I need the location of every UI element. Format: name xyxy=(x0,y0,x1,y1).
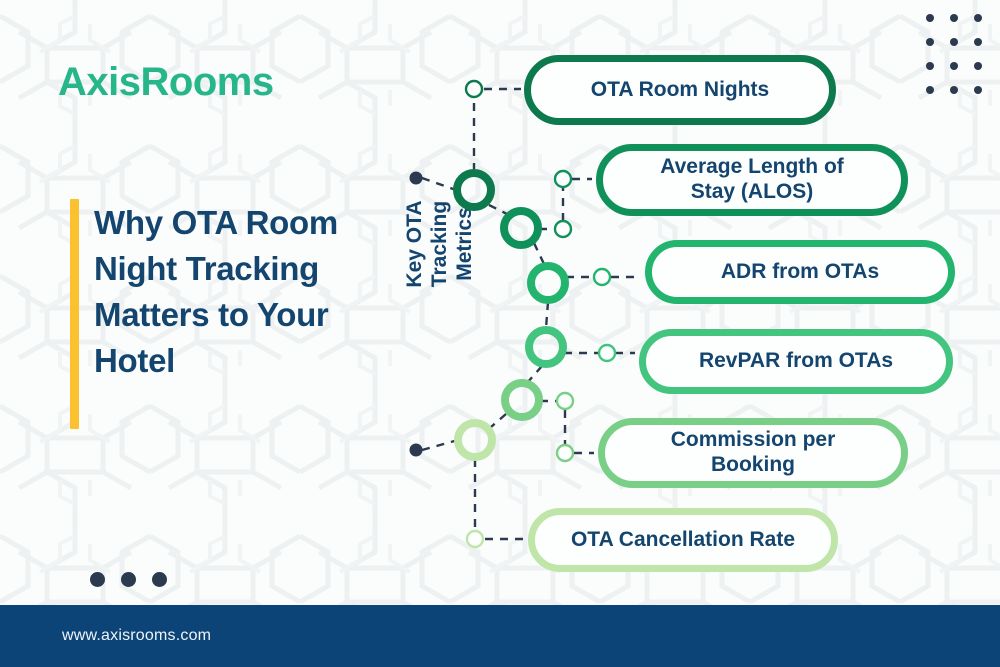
metric-ring-6 xyxy=(458,423,492,457)
metric-pill-label: Average Length of Stay (ALOS) xyxy=(660,155,844,205)
decorative-dot-grid xyxy=(926,14,998,110)
branch-node-2b xyxy=(555,171,571,187)
branch-node-2a xyxy=(555,221,571,237)
decorative-dot xyxy=(121,572,136,587)
grid-dot xyxy=(974,38,982,46)
decorative-dots-row xyxy=(90,572,167,587)
metric-pill-ota-cancellation-rate[interactable]: OTA Cancellation Rate xyxy=(528,508,838,572)
branch-node-6 xyxy=(467,531,483,547)
metric-pill-adr-from-otas[interactable]: ADR from OTAs xyxy=(645,240,955,304)
metric-ring-5 xyxy=(505,383,539,417)
grid-dot xyxy=(926,86,934,94)
metric-pill-average-length-of-stay[interactable]: Average Length of Stay (ALOS) xyxy=(596,144,908,216)
branch-node-3 xyxy=(594,269,610,285)
grid-dot xyxy=(950,14,958,22)
grid-dot xyxy=(950,38,958,46)
branch-1-dashes xyxy=(474,89,521,171)
decorative-dot xyxy=(90,572,105,587)
grid-dot xyxy=(974,86,982,94)
grid-dot xyxy=(926,38,934,46)
metric-pill-label: OTA Cancellation Rate xyxy=(571,528,795,553)
metric-pill-commission-per-booking[interactable]: Commission per Booking xyxy=(598,418,908,488)
metric-pill-label: ADR from OTAs xyxy=(721,260,879,285)
decorative-dot xyxy=(152,572,167,587)
metric-pill-label: RevPAR from OTAs xyxy=(699,349,893,374)
grid-dot xyxy=(950,62,958,70)
metric-pill-label: OTA Room Nights xyxy=(591,78,769,103)
metric-ring-4 xyxy=(529,330,563,364)
grid-dot xyxy=(974,62,982,70)
grid-dot xyxy=(926,14,934,22)
metric-ring-2 xyxy=(504,211,538,245)
lead-in-dot-top xyxy=(422,178,456,190)
branch-node-4 xyxy=(599,345,615,361)
branch-node-5b xyxy=(557,445,573,461)
metric-ring-1 xyxy=(457,173,491,207)
grid-dot xyxy=(926,62,934,70)
grid-dot xyxy=(950,86,958,94)
lead-in-dot-top-marker xyxy=(410,172,423,185)
infographic-canvas: AxisRooms Why OTA Room Night Tracking Ma… xyxy=(0,0,1000,667)
footer-website-url[interactable]: www.axisrooms.com xyxy=(62,627,211,645)
metric-pill-revpar-from-otas[interactable]: RevPAR from OTAs xyxy=(639,329,953,394)
footer-bar: www.axisrooms.com xyxy=(0,605,1000,667)
lead-in-dot-bottom xyxy=(422,440,458,450)
metric-ring-3 xyxy=(531,266,565,300)
branch-node-1 xyxy=(466,81,482,97)
metric-pill-label: Commission per Booking xyxy=(671,428,836,478)
lead-in-dot-bottom-marker xyxy=(410,444,423,457)
branch-6-dashes xyxy=(475,459,524,539)
metric-pill-ota-room-nights[interactable]: OTA Room Nights xyxy=(524,55,836,125)
branch-node-5a xyxy=(557,393,573,409)
grid-dot xyxy=(974,14,982,22)
